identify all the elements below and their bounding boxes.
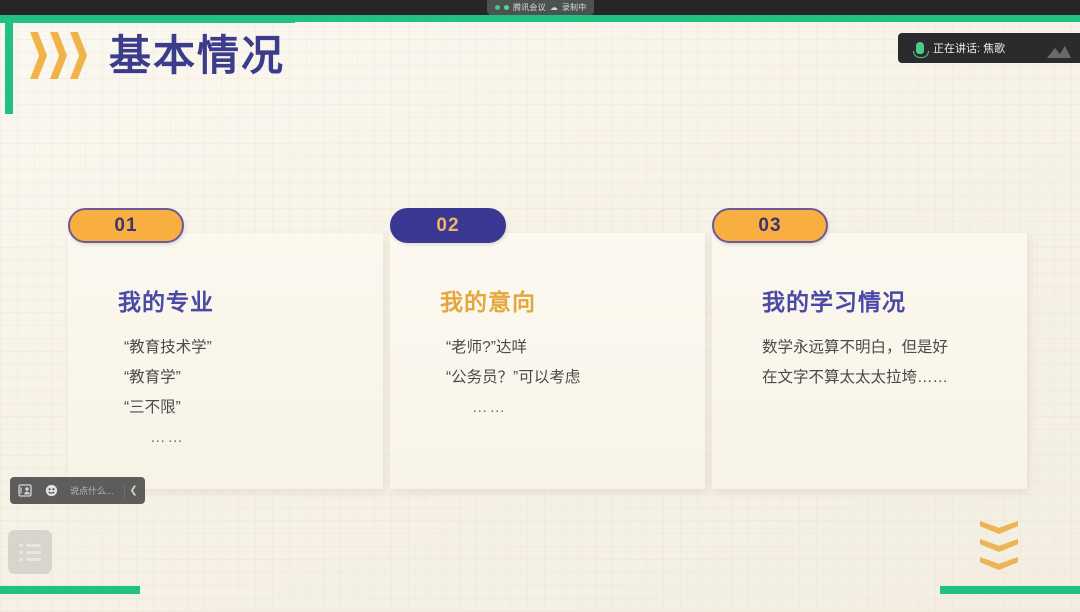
card-line: 数学永远算不明白，但是好 [762, 333, 1013, 363]
card-line: “教育学” [124, 363, 365, 393]
card-item: 01 我的专业 “教育技术学” “教育学” “三不限” …… [68, 233, 383, 489]
chevron-left-icon[interactable]: ❮ [125, 477, 143, 504]
chat-input-bar[interactable]: 说点什么... ❮ [10, 477, 145, 504]
green-accent-bottom-left [0, 586, 140, 594]
card-line: “教育技术学” [124, 333, 365, 363]
card-line: “三不限” [124, 393, 365, 423]
chevron-right-icon [70, 32, 87, 79]
card-list: 01 我的专业 “教育技术学” “教育学” “三不限” …… 02 我的意向 “… [68, 233, 1027, 489]
chevron-down-group-icon [980, 521, 1018, 570]
green-accent-top-left [0, 14, 295, 23]
emoji-icon[interactable] [38, 477, 64, 504]
card-ellipsis: …… [446, 393, 687, 423]
card-badge: 02 [390, 208, 506, 243]
card-body: “教育技术学” “教育学” “三不限” …… [124, 333, 365, 453]
page-title: 基本情况 [109, 35, 285, 77]
green-accent-bottom-right [940, 586, 1080, 594]
status-dot-icon [504, 5, 509, 10]
chevron-right-icon [30, 32, 47, 79]
card-item: 02 我的意向 “老师?”达咩 “公务员？”可以考虑 …… [390, 233, 705, 489]
card-body: 数学永远算不明白，但是好 在文字不算太太太拉垮…… [762, 333, 1013, 393]
card-line: 在文字不算太太太拉垮…… [762, 363, 1013, 393]
speaking-label: 正在讲话: 焦歌 [933, 40, 1005, 56]
card-heading: 我的专业 [118, 283, 214, 317]
card-line: “公务员？”可以考虑 [446, 363, 687, 393]
card-badge: 03 [712, 208, 828, 243]
card-heading: 我的意向 [440, 283, 536, 317]
card-badge: 01 [68, 208, 184, 243]
speaking-indicator: 正在讲话: 焦歌 [898, 33, 1080, 63]
audio-wave-icon [1046, 43, 1072, 59]
chevron-right-icon [50, 32, 67, 79]
list-menu-button[interactable] [8, 530, 52, 574]
contact-card-icon[interactable] [12, 477, 38, 504]
card-line: “老师?”达咩 [446, 333, 687, 363]
list-menu-icon [19, 543, 41, 562]
green-accent-left-bar [5, 18, 13, 114]
recording-label: 录制中 [562, 2, 587, 13]
chevron-down-icon [980, 557, 1018, 570]
meeting-app-label: 腾讯会议 [513, 2, 546, 13]
chevron-down-icon [980, 521, 1018, 534]
microphone-icon [916, 42, 924, 54]
chat-input-placeholder[interactable]: 说点什么... [64, 484, 124, 497]
meeting-status-pill[interactable]: 腾讯会议 ☁ 录制中 [487, 0, 594, 15]
card-ellipsis: …… [124, 423, 365, 453]
chevron-down-icon [980, 539, 1018, 552]
slide-title-row: 基本情况 [30, 32, 285, 79]
cloud-icon: ☁ [550, 3, 558, 12]
presentation-slide: 基本情况 01 我的专业 “教育技术学” “教育学” “三不限” …… 02 我… [0, 0, 1080, 612]
status-dot-icon [495, 5, 500, 10]
card-heading: 我的学习情况 [762, 283, 906, 317]
card-item: 03 我的学习情况 数学永远算不明白，但是好 在文字不算太太太拉垮…… [712, 233, 1027, 489]
card-body: “老师?”达咩 “公务员？”可以考虑 …… [446, 333, 687, 423]
chevron-group-icon [30, 32, 87, 79]
